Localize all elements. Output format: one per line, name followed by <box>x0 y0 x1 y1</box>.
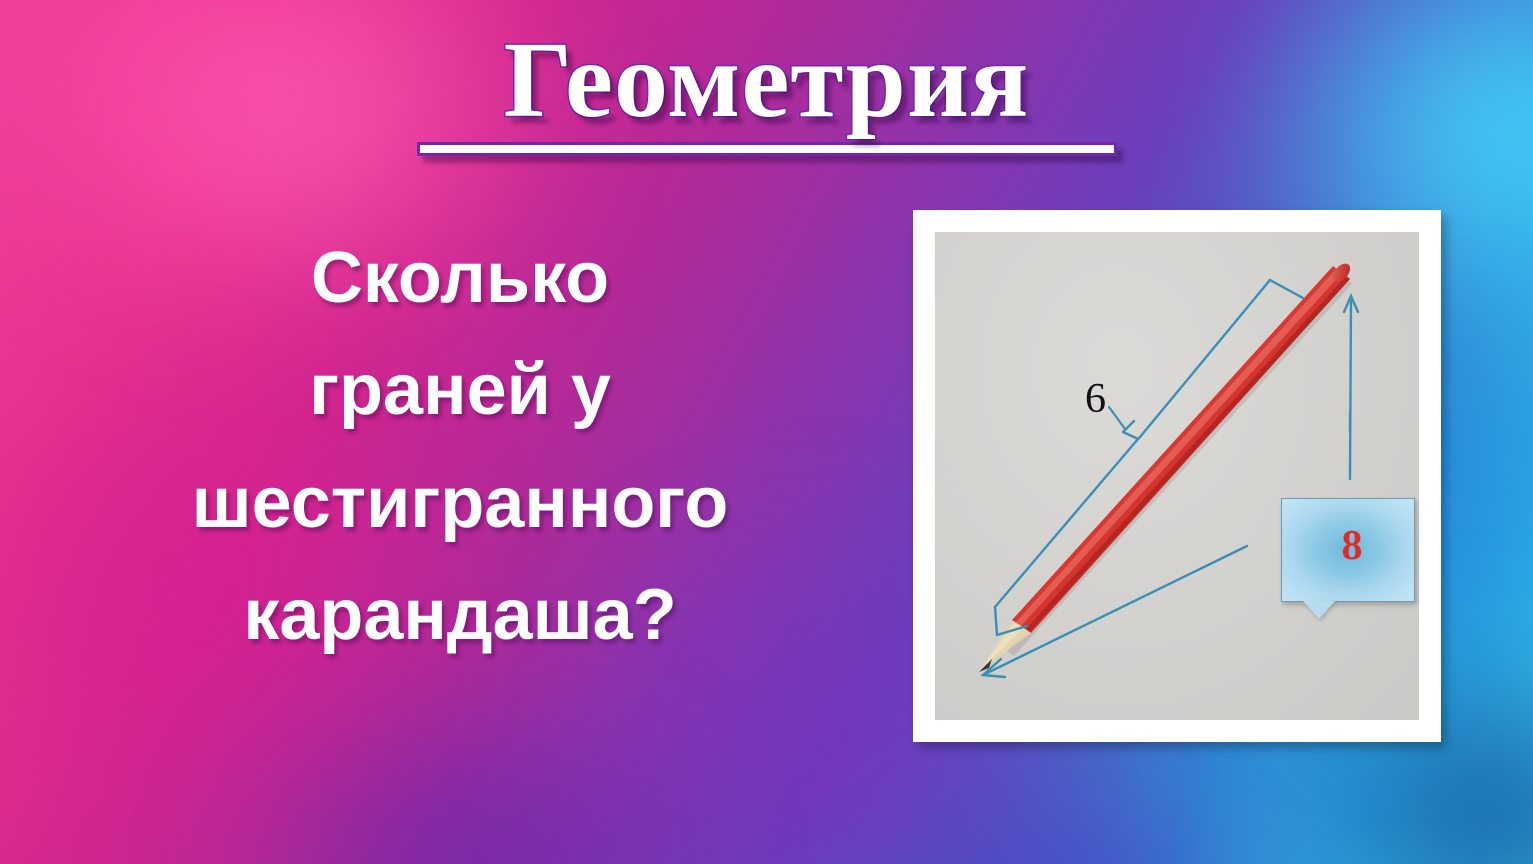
answer-callout-tail <box>1303 601 1335 619</box>
cap-arrow <box>1344 296 1358 479</box>
cap-arrow-shaft <box>1350 298 1351 479</box>
title-block: Геометрия <box>0 26 1533 156</box>
question-line-4: карандаша? <box>30 559 890 671</box>
answer-callout[interactable]: 8 <box>1281 498 1415 602</box>
bracket-bottom-corner <box>995 607 997 635</box>
length-bracket <box>995 280 1303 635</box>
slide-root: Геометрия Сколько граней у шестигранного… <box>0 0 1533 864</box>
bracket-label: 6 <box>1085 376 1106 422</box>
question-line-2: граней у <box>30 334 890 446</box>
page-title: Геометрия <box>504 26 1030 136</box>
bracket-top-tick <box>1270 280 1303 298</box>
pencil-diagram: 6 <box>935 232 1419 720</box>
answer-callout-body: 8 <box>1281 498 1415 602</box>
question-block: Сколько граней у шестигранного карандаша… <box>30 222 890 671</box>
photo-frame: 6 <box>913 210 1441 742</box>
question-line-3: шестигранного <box>30 447 890 559</box>
answer-value: 8 <box>1342 525 1363 567</box>
pencil <box>979 260 1353 672</box>
photo-canvas: 6 <box>935 232 1419 720</box>
bracket-label-leader <box>1109 407 1125 429</box>
question-line-1: Сколько <box>30 222 890 334</box>
title-underline <box>417 142 1117 156</box>
